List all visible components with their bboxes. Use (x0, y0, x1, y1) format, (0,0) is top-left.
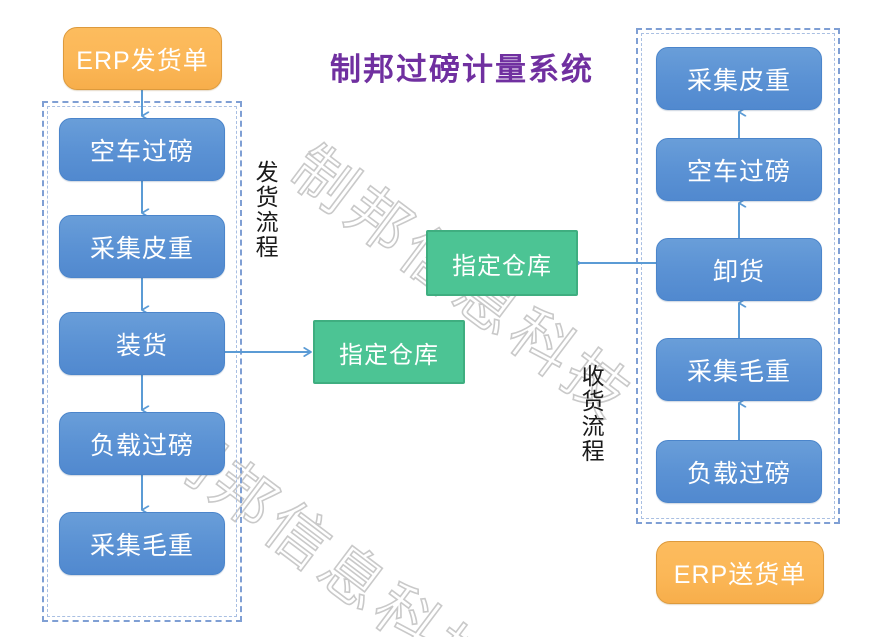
node-erp-delivery-order[interactable]: ERP送货单 (656, 541, 824, 604)
group-label-shipping: 发货流程 (252, 160, 276, 260)
node-shipping-step-1[interactable]: 空车过磅 (59, 118, 225, 181)
node-warehouse-shipping[interactable]: 指定仓库 (313, 320, 465, 384)
group-label-receiving: 收货流程 (578, 364, 602, 464)
node-label: ERP发货单 (76, 41, 208, 77)
node-shipping-step-2[interactable]: 采集皮重 (59, 215, 225, 278)
node-label: 空车过磅 (90, 132, 194, 168)
node-receiving-step-2[interactable]: 采集毛重 (656, 338, 822, 401)
node-label: 装货 (116, 326, 168, 362)
node-label: ERP送货单 (674, 555, 806, 591)
node-receiving-step-3[interactable]: 卸货 (656, 238, 822, 301)
node-label: 采集毛重 (687, 352, 791, 388)
node-label: 采集皮重 (90, 229, 194, 265)
node-shipping-step-3[interactable]: 装货 (59, 312, 225, 375)
node-label: 采集毛重 (90, 526, 194, 562)
page-title: 制邦过磅计量系统 (330, 44, 594, 89)
node-receiving-step-5[interactable]: 采集皮重 (656, 47, 822, 110)
node-label: 指定仓库 (452, 246, 552, 281)
node-shipping-step-4[interactable]: 负载过磅 (59, 412, 225, 475)
node-label: 空车过磅 (687, 152, 791, 188)
node-erp-shipping-order[interactable]: ERP发货单 (63, 27, 222, 90)
node-shipping-step-5[interactable]: 采集毛重 (59, 512, 225, 575)
node-warehouse-receiving[interactable]: 指定仓库 (426, 230, 578, 296)
flowchart-canvas: 制邦信息科技 制邦信息科技 制邦过磅计量系统 发货流程 收货流程 ERP发货单 … (0, 0, 870, 637)
node-label: 负载过磅 (90, 426, 194, 462)
node-label: 指定仓库 (339, 335, 439, 370)
node-label: 采集皮重 (687, 61, 791, 97)
node-label: 卸货 (713, 252, 765, 288)
node-receiving-step-4[interactable]: 空车过磅 (656, 138, 822, 201)
node-receiving-step-1[interactable]: 负载过磅 (656, 440, 822, 503)
node-label: 负载过磅 (687, 454, 791, 490)
